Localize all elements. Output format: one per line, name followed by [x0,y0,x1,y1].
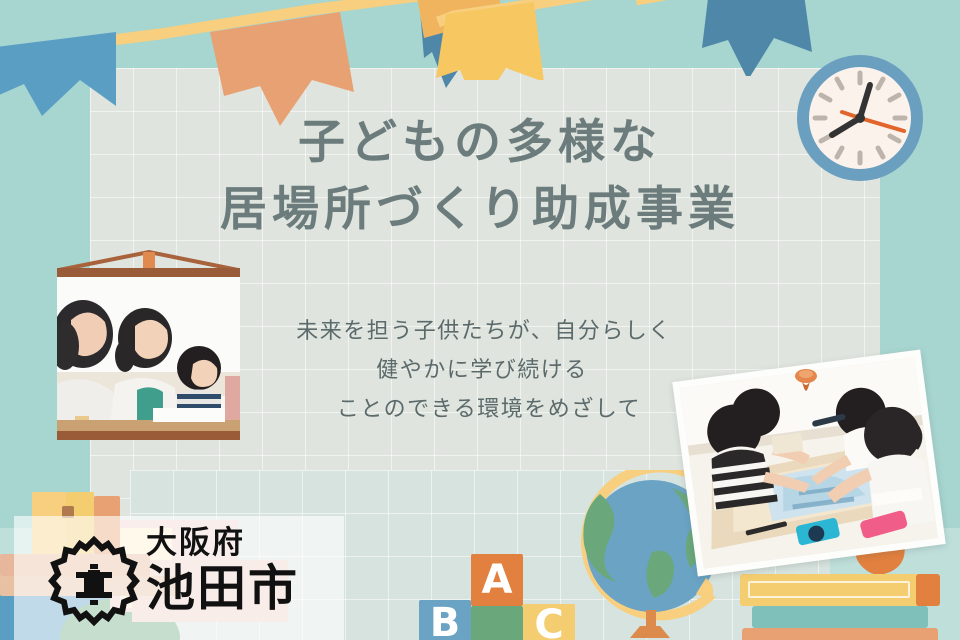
title-line-1: 子どもの多様な [0,110,960,177]
bunting-flags-icon [0,0,500,128]
scroll-bar-bottom [57,431,240,440]
city-name: 池田市 [146,562,299,617]
bunting-flag-yellow [434,0,634,80]
scroll-bar-top [57,268,240,277]
poster-canvas: 子どもの多様な 居場所づくり助成事業 未来を担う子供たちが、自分らしく 健やかに… [0,0,960,640]
block-letter-c: C [523,604,575,640]
block-letter-a: A [471,554,523,606]
block-letter-b: B [419,600,471,640]
book-salmon [742,628,938,640]
pushpin-icon [793,368,819,392]
city-logo: 大阪府 池田市 [46,526,346,632]
book-yellow-spine [916,574,940,606]
page-title: 子どもの多様な 居場所づくり助成事業 [0,110,960,243]
title-line-2: 居場所づくり助成事業 [0,177,960,244]
scroll-photo-image [57,276,240,432]
city-logo-text: 大阪府 池田市 [146,526,299,617]
book-yellow-stripe [748,581,910,598]
book-teal [752,606,928,628]
ikeda-city-crest-icon [46,534,142,628]
block-green [471,606,523,640]
prefecture-name: 大阪府 [146,526,299,562]
classroom-children-photo [57,268,240,440]
